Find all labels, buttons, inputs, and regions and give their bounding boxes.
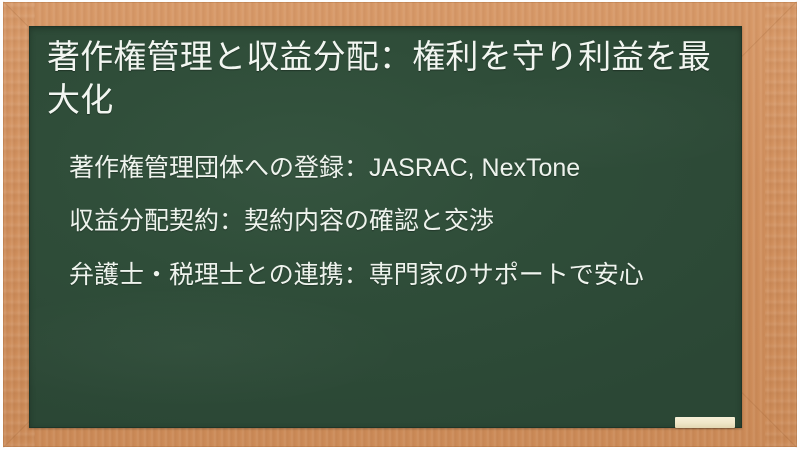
frame-right-stile <box>765 2 797 447</box>
chalkboard-surface: 著作権管理と収益分配：権利を守り利益を最大化 著作権管理団体への登録：JASRA… <box>29 26 742 428</box>
chalkboard-content: 著作権管理と収益分配：権利を守り利益を最大化 著作権管理団体への登録：JASRA… <box>29 26 742 291</box>
bullet-list: 著作権管理団体への登録：JASRAC, NexTone 収益分配契約：契約内容の… <box>47 152 726 292</box>
bullet-item-1: 著作権管理団体への登録：JASRAC, NexTone <box>69 152 712 185</box>
bullet-item-2: 収益分配契約：契約内容の確認と交渉 <box>69 205 712 238</box>
chalk-stick-icon <box>675 417 735 428</box>
chalkboard-slide: 著作権管理と収益分配：権利を守り利益を最大化 著作権管理団体への登録：JASRA… <box>0 0 800 450</box>
bullet-item-3: 弁護士・税理士との連携：専門家のサポートで安心 <box>69 259 712 292</box>
slide-title: 著作権管理と収益分配：権利を守り利益を最大化 <box>47 30 726 122</box>
